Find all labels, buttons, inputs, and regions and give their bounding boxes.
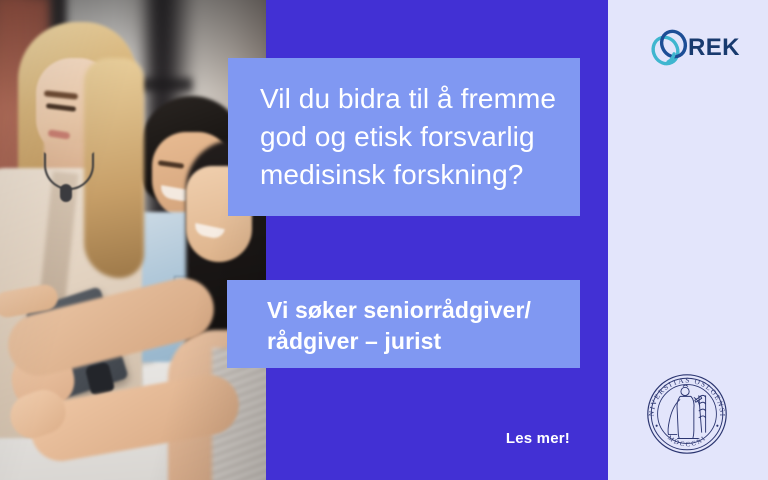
- headline-line-1: Vil du bidra til å fremme: [260, 80, 550, 118]
- rek-wordmark: REK: [688, 34, 740, 62]
- headline-line-3: medisinsk forskning?: [260, 156, 550, 194]
- office-team-photo: [0, 0, 266, 480]
- headline-card: Vil du bidra til å fremme god og etisk f…: [228, 58, 580, 216]
- job-title-card: Vi søker seniorrådgiver/ rådgiver – juri…: [227, 280, 580, 368]
- recruitment-banner: Vil du bidra til å fremme god og etisk f…: [0, 0, 768, 480]
- uio-university-seal-icon: UNIVERSITAS OSLOENSIS MDCCCXI: [638, 365, 736, 463]
- headline-line-2: god og etisk forsvarlig: [260, 118, 550, 156]
- job-title-line-1: Vi søker seniorrådgiver/: [267, 295, 556, 326]
- read-more-link[interactable]: Les mer!: [410, 430, 570, 447]
- rek-logo[interactable]: REK: [650, 26, 740, 70]
- photo-vignette: [0, 0, 266, 480]
- rek-interlocking-rings-icon: [650, 28, 690, 68]
- job-title-line-2: rådgiver – jurist: [267, 326, 556, 357]
